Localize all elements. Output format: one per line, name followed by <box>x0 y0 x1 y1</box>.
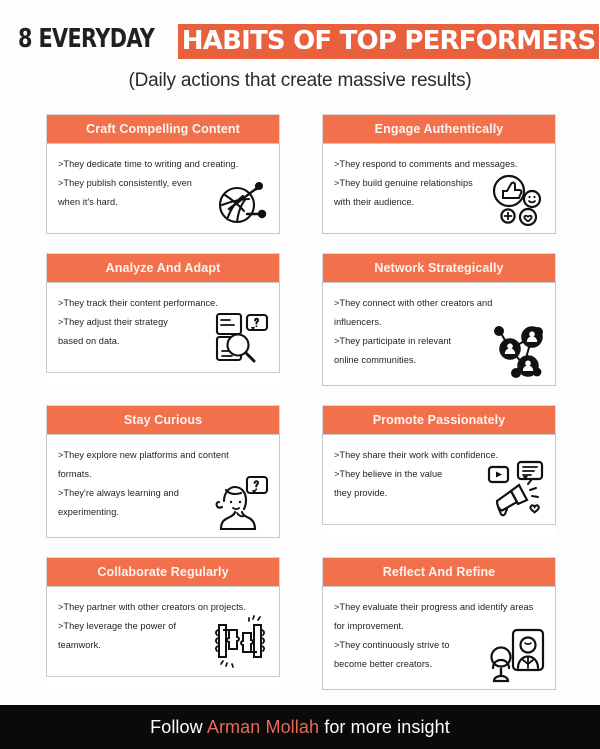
card-body: >They dedicate time to writing and creat… <box>46 143 280 234</box>
card-body: >They explore new platforms and content … <box>46 434 280 538</box>
bullet-line: >They adjust their strategy <box>58 313 230 332</box>
card-body: >They track their content performance. >… <box>46 282 280 373</box>
page-title: 8 EVERYDAY HABITS OF TOP PERFORMERS <box>0 24 600 59</box>
bullet-line: with their audience. <box>334 193 516 212</box>
card-bullets: >They share their work with confidence. … <box>334 446 506 503</box>
habits-grid: Craft Compelling Content >They dedicate … <box>0 92 600 705</box>
card-title: Network Strategically <box>374 261 503 275</box>
title-highlight-box: HABITS OF TOP PERFORMERS <box>178 24 600 59</box>
bullet-line: formats. <box>58 465 240 484</box>
bullet-line: >They share their work with confidence. <box>334 446 506 465</box>
bullet-line: >They dedicate time to writing and creat… <box>58 155 230 174</box>
habit-card-craft-compelling-content: Craft Compelling Content >They dedicate … <box>46 114 280 234</box>
card-header: Reflect And Refine <box>322 557 556 586</box>
footer-author-name: Arman Mollah <box>207 717 319 737</box>
infographic-page: 8 EVERYDAY HABITS OF TOP PERFORMERS (Dai… <box>0 0 600 749</box>
habit-card-analyze-and-adapt: Analyze And Adapt >They track their cont… <box>46 253 280 386</box>
bullet-line: >They build genuine relationships <box>334 174 516 193</box>
bullet-line: >They're always learning and <box>58 484 240 503</box>
footer-bar: Follow Arman Mollah for more insight <box>0 705 600 749</box>
bullet-line: >They believe in the value <box>334 465 506 484</box>
card-title: Analyze And Adapt <box>106 261 221 275</box>
card-title: Stay Curious <box>124 413 202 427</box>
card-header: Stay Curious <box>46 405 280 434</box>
card-header: Engage Authentically <box>322 114 556 143</box>
card-title: Craft Compelling Content <box>86 122 240 136</box>
bullet-line: become better creators. <box>334 655 516 674</box>
card-bullets: >They explore new platforms and content … <box>58 446 240 522</box>
bullet-line: >They publish consistently, even <box>58 174 230 193</box>
card-bullets: >They evaluate their progress and identi… <box>334 598 516 674</box>
bullet-line: for improvement. <box>334 617 516 636</box>
habit-card-reflect-and-refine: Reflect And Refine >They evaluate their … <box>322 557 556 690</box>
card-body: >They respond to comments and messages. … <box>322 143 556 234</box>
card-header: Collaborate Regularly <box>46 557 280 586</box>
title-plain-text: 8 EVERYDAY <box>18 24 154 59</box>
bullet-line: they provide. <box>334 484 506 503</box>
bullet-line: >They respond to comments and messages. <box>334 155 516 174</box>
bullet-line: online communities. <box>334 351 516 370</box>
bullet-line: >They continuously strive to <box>334 636 516 655</box>
habit-card-collaborate-regularly: Collaborate Regularly >They partner with… <box>46 557 280 690</box>
habit-card-network-strategically: Network Strategically >They connect with… <box>322 253 556 386</box>
card-title: Reflect And Refine <box>383 565 495 579</box>
footer-suffix: for more insight <box>324 717 450 737</box>
bullet-line: >They participate in relevant <box>334 332 516 351</box>
card-title: Engage Authentically <box>375 122 504 136</box>
bullet-line: experimenting. <box>58 503 240 522</box>
page-subtitle: (Daily actions that create massive resul… <box>0 70 600 92</box>
bullet-line: when it's hard. <box>58 193 230 212</box>
card-title: Collaborate Regularly <box>97 565 228 579</box>
card-header: Analyze And Adapt <box>46 253 280 282</box>
card-body: >They connect with other creators and in… <box>322 282 556 386</box>
bullet-line: >They evaluate their progress and identi… <box>334 598 516 617</box>
habit-card-stay-curious: Stay Curious >They explore new platforms… <box>46 405 280 538</box>
bullet-line: >They leverage the power of <box>58 617 240 636</box>
card-bullets: >They track their content performance. >… <box>58 294 230 351</box>
card-bullets: >They connect with other creators and in… <box>334 294 516 370</box>
card-bullets: >They respond to comments and messages. … <box>334 155 516 212</box>
bullet-line: >They explore new platforms and content <box>58 446 240 465</box>
card-header: Network Strategically <box>322 253 556 282</box>
bullet-line: influencers. <box>334 313 516 332</box>
bullet-line: >They partner with other creators on pro… <box>58 598 240 617</box>
bullet-line: based on data. <box>58 332 230 351</box>
card-header: Promote Passionately <box>322 405 556 434</box>
card-body: >They partner with other creators on pro… <box>46 586 280 677</box>
bullet-line: >They track their content performance. <box>58 294 230 313</box>
footer-credit: Follow Arman Mollah for more insight <box>150 717 450 738</box>
card-header: Craft Compelling Content <box>46 114 280 143</box>
habit-card-promote-passionately: Promote Passionately >They share their w… <box>322 405 556 538</box>
card-bullets: >They dedicate time to writing and creat… <box>58 155 230 212</box>
bullet-line: >They connect with other creators and <box>334 294 516 313</box>
card-bullets: >They partner with other creators on pro… <box>58 598 240 655</box>
bullet-line: teamwork. <box>58 636 240 655</box>
footer-prefix: Follow <box>150 717 203 737</box>
card-title: Promote Passionately <box>373 413 506 427</box>
page-header: 8 EVERYDAY HABITS OF TOP PERFORMERS (Dai… <box>0 0 600 92</box>
habit-card-engage-authentically: Engage Authentically >They respond to co… <box>322 114 556 234</box>
card-body: >They evaluate their progress and identi… <box>322 586 556 690</box>
title-highlight-text: HABITS OF TOP PERFORMERS <box>182 26 596 56</box>
card-body: >They share their work with confidence. … <box>322 434 556 525</box>
